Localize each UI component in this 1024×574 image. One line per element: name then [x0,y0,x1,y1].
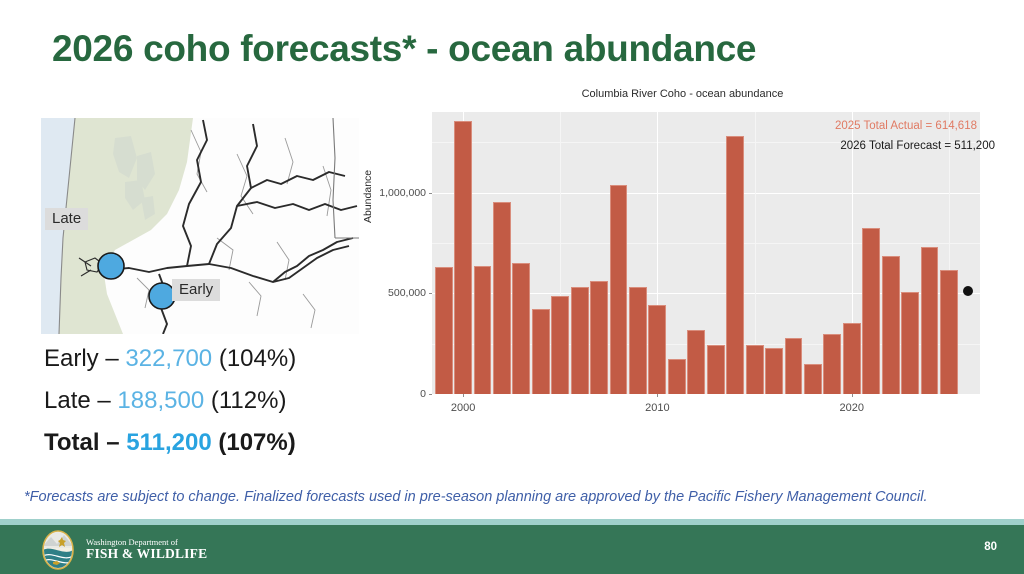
logo-line-2: FISH & WILDLIFE [86,547,207,561]
forecast-dash-early: – [105,345,118,372]
chart-plot-panel [432,112,980,394]
chart-x-tick-mark [852,394,853,397]
chart-bar [629,287,647,394]
chart-x-tick-mark [657,394,658,397]
chart-bar [765,348,783,394]
chart-x-tick-label: 2000 [451,402,475,414]
page-number: 80 [984,541,997,553]
chart-x-tick-mark [463,394,464,397]
annotation-forecast: 2026 Total Forecast = 511,200 [840,140,995,152]
chart-gridline-y [432,394,980,395]
forecast-label-late: Late [44,387,91,414]
forecast-value-late: 188,500 [117,387,204,414]
chart-y-tick-label: 0 [420,388,426,400]
chart-bar [862,228,880,394]
forecast-row-late: Late – 188,500 (112%) [44,387,394,415]
chart-bar [921,247,939,394]
forecast-summary: Early – 322,700 (104%) Late – 188,500 (1… [44,345,394,471]
map-svg [41,118,359,334]
wdfw-logo: Washington Department of FISH & WILDLIFE [38,530,207,570]
chart-y-tick-mark [429,193,432,194]
chart-y-tick-mark [429,293,432,294]
map-label-late: Late [45,208,88,230]
forecast-label-total: Total [44,429,100,456]
forecast-value-early: 322,700 [125,345,212,372]
chart-title: Columbia River Coho - ocean abundance [360,88,1005,100]
chart-y-tick-label: 1,000,000 [379,187,426,199]
forecast-value-total: 511,200 [126,429,211,456]
chart-gridline-y-minor [432,243,980,244]
forecast-label-early: Early [44,345,99,372]
chart-y-axis-title: Abundance [362,170,374,223]
chart-y-tick-mark [429,394,432,395]
forecast-row-early: Early – 322,700 (104%) [44,345,394,373]
chart-bar [454,121,472,394]
chart-bar [940,270,958,394]
chart-y-tick-label: 500,000 [388,287,426,299]
chart-bar [512,263,530,394]
chart-bar [901,292,919,394]
chart-x-tick-label: 2020 [839,402,863,414]
forecast-pct-late: (112%) [211,387,287,414]
chart-bar [707,345,725,394]
page-title: 2026 coho forecasts* - ocean abundance [52,28,912,70]
wdfw-logo-text: Washington Department of FISH & WILDLIFE [86,538,207,561]
map-label-early: Early [172,279,220,301]
forecast-pct-early: (104%) [219,345,296,372]
chart-bar [435,267,453,394]
chart-bar [785,338,803,394]
forecast-dash-late: – [97,387,110,414]
chart-bar [746,345,764,394]
chart-bar [571,287,589,394]
chart-bar [687,330,705,394]
chart-bar [843,323,861,395]
chart-x-tick-label: 2010 [645,402,669,414]
chart-bar [474,266,492,394]
slide-canvas: 2026 coho forecasts* - ocean abundance [0,0,1024,574]
map-marker-late [98,253,124,279]
chart-bar [493,202,511,394]
page-footer: Washington Department of FISH & WILDLIFE… [0,525,1024,574]
wdfw-emblem-icon [38,530,78,570]
abundance-chart: Columbia River Coho - ocean abundance Ab… [360,88,1005,428]
chart-bar [668,359,686,394]
chart-bar [804,364,822,394]
chart-bar [648,305,666,394]
chart-bar [823,334,841,394]
footnote: *Forecasts are subject to change. Finali… [24,489,1004,505]
chart-forecast-point [963,286,973,296]
forecast-dash-total: – [106,429,119,456]
chart-bar [882,256,900,394]
chart-bar [532,309,550,394]
chart-bar [610,185,628,394]
chart-bar [590,281,608,394]
forecast-pct-total: (107%) [218,429,295,456]
chart-bar [551,296,569,394]
forecast-row-total: Total – 511,200 (107%) [44,429,394,457]
chart-bar [726,136,744,394]
region-map: Late Early [41,118,359,334]
chart-gridline-y [432,193,980,194]
annotation-actual: 2025 Total Actual = 614,618 [835,120,977,132]
